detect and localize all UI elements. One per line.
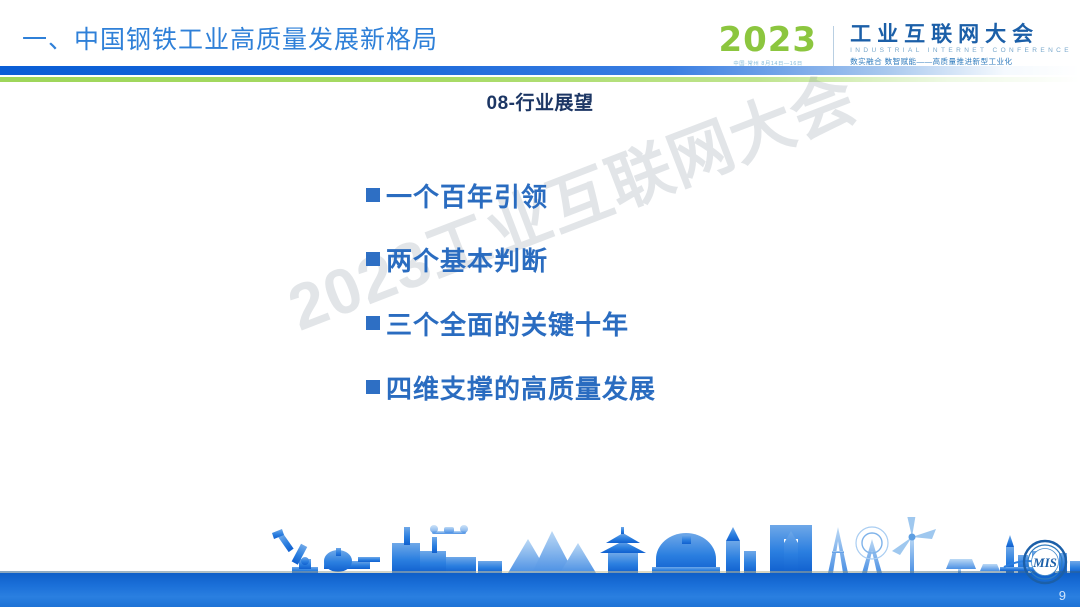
conference-logo-name-en: INDUSTRIAL INTERNET CONFERENCE	[850, 47, 1072, 54]
list-item-label: 四维支撑的高质量发展	[386, 369, 656, 406]
list-item-label: 三个全面的关键十年	[386, 305, 629, 342]
arch-building-icon	[652, 533, 720, 573]
lattice-tower-icon	[828, 527, 848, 573]
list-item: 三个全面的关键十年	[366, 291, 926, 355]
list-item: 四维支撑的高质量发展	[366, 355, 926, 419]
conference-logo-year: 2023	[718, 24, 817, 56]
robot-arm-icon	[272, 529, 318, 573]
signal-tower-icon	[856, 527, 888, 573]
conference-logo-year-block: 2023 中国·常州 8月14日—16日	[718, 24, 825, 66]
list-item-label: 两个基本判断	[386, 241, 548, 278]
bullet-square-icon	[366, 188, 380, 202]
conference-logo-name-cn: 工业互联网大会	[850, 24, 1072, 46]
bullet-square-icon	[366, 316, 380, 330]
mis-logo-text: MIS	[1032, 555, 1057, 570]
bullet-list: 一个百年引领 两个基本判断 三个全面的关键十年 四维支撑的高质量发展	[366, 163, 926, 419]
mountains-icon	[508, 531, 596, 573]
skyline-illustration	[0, 517, 1080, 573]
slide-canvas: 一、中国钢铁工业高质量发展新格局 2023 中国·常州 8月14日—16日 工业…	[0, 0, 1080, 607]
bullet-square-icon	[366, 252, 380, 266]
page-title: 一、中国钢铁工业高质量发展新格局	[22, 20, 438, 56]
bullet-square-icon	[366, 380, 380, 394]
conference-logo-date: 中国·常州 8月14日—16日	[733, 60, 802, 67]
conference-logo-slogan: 数实融合 数智赋能——高质量推进新型工业化	[850, 56, 1072, 67]
wind-turbine-icon	[892, 517, 936, 573]
gateway-building-icon	[770, 525, 812, 573]
conference-logo: 2023 中国·常州 8月14日—16日 工业互联网大会 INDUSTRIAL …	[718, 24, 1072, 67]
bottom-decoration: MIS 9	[0, 517, 1080, 607]
section-heading: 08-行业展望	[0, 88, 1080, 115]
page-number: 9	[1059, 588, 1066, 603]
tower-building-icon	[726, 527, 756, 573]
drone-icon	[430, 525, 468, 534]
pipeline-icon	[324, 548, 380, 572]
header-divider-green	[0, 77, 1080, 82]
conference-logo-name-block: 工业互联网大会 INDUSTRIAL INTERNET CONFERENCE 数…	[842, 24, 1072, 67]
list-item: 一个百年引领	[366, 163, 926, 227]
header-divider-blue	[0, 66, 1080, 75]
list-item-label: 一个百年引领	[386, 177, 548, 214]
pagoda-icon	[600, 527, 646, 573]
conference-logo-separator	[833, 26, 834, 66]
water-band	[0, 573, 1080, 607]
list-item: 两个基本判断	[366, 227, 926, 291]
mis-brand-logo: MIS	[1022, 539, 1068, 585]
